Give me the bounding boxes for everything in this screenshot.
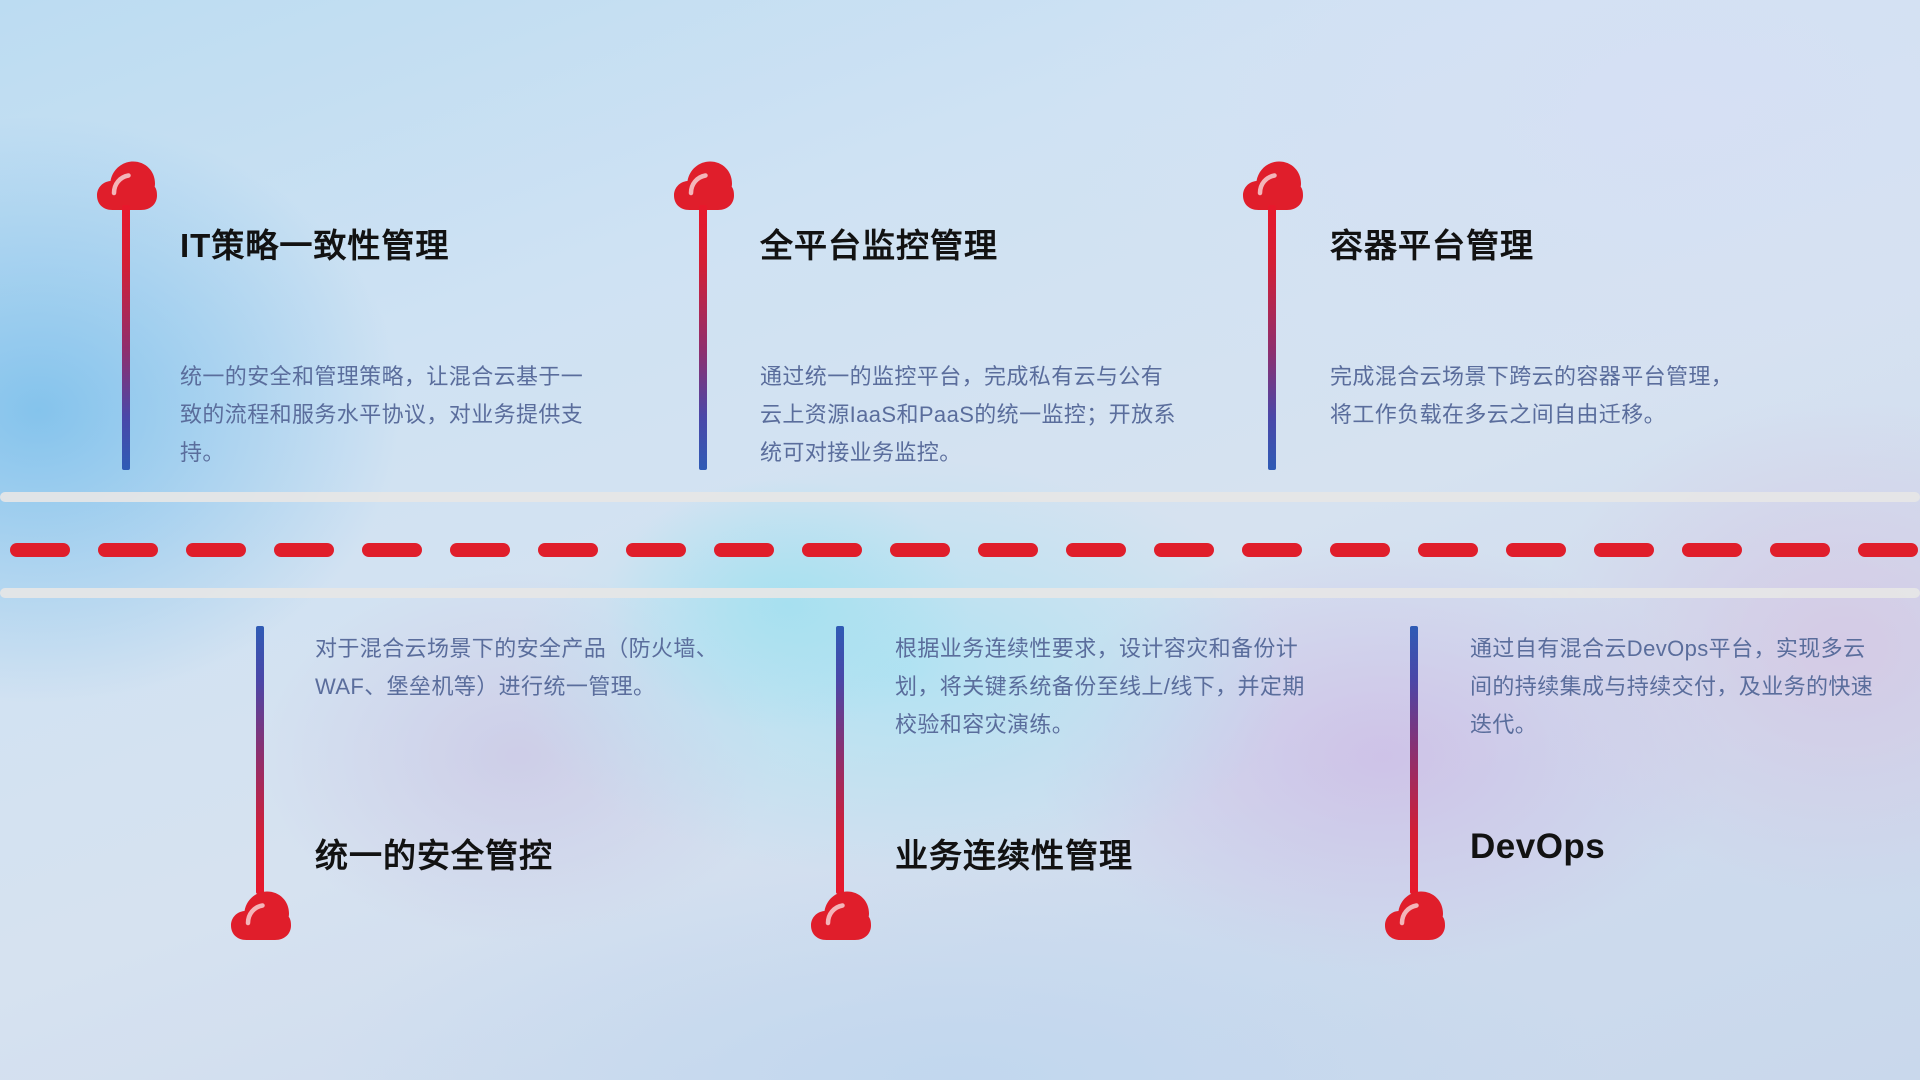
divider-dash (626, 543, 686, 557)
divider-dash (362, 543, 422, 557)
divider-dash (1242, 543, 1302, 557)
stem-connector (699, 205, 707, 470)
card-body-text: 根据业务连续性要求，设计容灾和备份计划，将关键系统备份至线上/线下，并定期校验和… (895, 630, 1315, 744)
divider-dashed-red (0, 543, 1920, 557)
card-title: IT策略一致性管理 (180, 219, 449, 267)
divider-dash (890, 543, 950, 557)
divider-dash (802, 543, 862, 557)
divider-dash (1506, 543, 1566, 557)
divider-dash (274, 543, 334, 557)
stem-connector (256, 626, 264, 894)
divider-dash (450, 543, 510, 557)
divider-dash (1066, 543, 1126, 557)
card-body-text: 对于混合云场景下的安全产品（防火墙、WAF、堡垒机等）进行统一管理。 (315, 630, 735, 706)
divider-dash (1594, 543, 1654, 557)
divider-dash (978, 543, 1038, 557)
card-title: 统一的安全管控 (315, 829, 553, 877)
divider-dash (1154, 543, 1214, 557)
divider-dash (1858, 543, 1918, 557)
card-body-text: 完成混合云场景下跨云的容器平台管理，将工作负载在多云之间自由迁移。 (1330, 358, 1750, 434)
divider-line-lower (0, 588, 1920, 598)
card-title: 业务连续性管理 (895, 829, 1133, 877)
stem-connector (1268, 205, 1276, 470)
card-title: 全平台监控管理 (760, 219, 998, 267)
divider-dash (1770, 543, 1830, 557)
stem-connector (122, 205, 130, 470)
divider-dash (1418, 543, 1478, 557)
divider-dash (98, 543, 158, 557)
card-body-text: 通过统一的监控平台，完成私有云与公有云上资源IaaS和PaaS的统一监控；开放系… (760, 358, 1180, 472)
divider-dash (1682, 543, 1742, 557)
divider-dash (714, 543, 774, 557)
stem-connector (836, 626, 844, 894)
card-title: DevOps (1470, 827, 1605, 867)
cloud-pin-icon (1384, 890, 1446, 942)
card-body-text: 通过自有混合云DevOps平台，实现多云间的持续集成与持续交付，及业务的快速迭代… (1470, 630, 1880, 744)
divider-dash (186, 543, 246, 557)
divider-dash (1330, 543, 1390, 557)
card-body-text: 统一的安全和管理策略，让混合云基于一致的流程和服务水平协议，对业务提供支持。 (180, 358, 600, 472)
cloud-pin-icon (810, 890, 872, 942)
divider-dash (538, 543, 598, 557)
divider-dash (10, 543, 70, 557)
cloud-pin-icon (230, 890, 292, 942)
card-title: 容器平台管理 (1330, 219, 1534, 267)
stem-connector (1410, 626, 1418, 894)
divider-line-upper (0, 492, 1920, 502)
